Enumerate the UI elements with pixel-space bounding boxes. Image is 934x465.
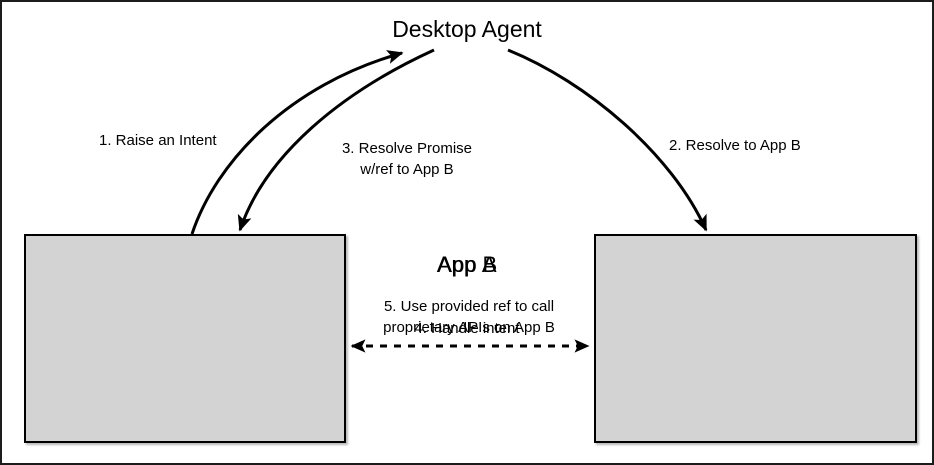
edge-2-label: 2. Resolve to App B	[669, 135, 801, 156]
edge-1-label: 1. Raise an Intent	[99, 130, 217, 151]
edge-5-label: 5. Use provided ref to call proprietary …	[343, 296, 595, 338]
diagram-canvas: Desktop Agent App A App B 4. Handle inte…	[0, 0, 934, 465]
diagram-title: Desktop Agent	[2, 16, 932, 43]
edge-3-label: 3. Resolve Promise w/ref to App B	[322, 138, 492, 180]
node-app-b-label: App B	[2, 252, 932, 278]
